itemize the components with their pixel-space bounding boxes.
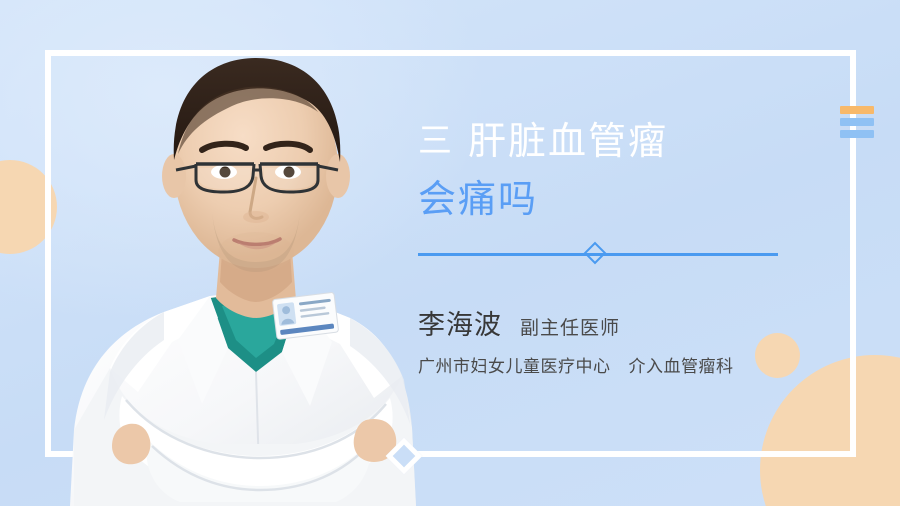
doctor-hospital: 广州市妇女儿童医疗中心 bbox=[418, 357, 611, 376]
doctor-affiliation: 广州市妇女儿童医疗中心介入血管瘤科 bbox=[418, 352, 734, 377]
title-line-1-text: 肝脏血管瘤 bbox=[468, 121, 668, 163]
doctor-rank: 副主任医师 bbox=[520, 313, 620, 340]
bars-icon-bar-2 bbox=[840, 118, 874, 126]
decorative-circle-right-small bbox=[755, 333, 800, 378]
headline-block: 三肝脏血管瘤 会痛吗 bbox=[418, 112, 838, 229]
bars-icon-bar-3 bbox=[840, 130, 874, 138]
doctor-department: 介入血管瘤科 bbox=[629, 357, 734, 376]
bars-icon-bar-1 bbox=[840, 106, 874, 114]
three-lines-glyph-icon: 三 bbox=[418, 112, 454, 170]
bars-icon bbox=[840, 106, 874, 138]
doctor-name: 李海波 bbox=[418, 303, 502, 342]
doctor-identity-row: 李海波 副主任医师 bbox=[418, 303, 620, 342]
doctor-portrait bbox=[60, 0, 440, 506]
title-line-1: 三肝脏血管瘤 bbox=[418, 112, 838, 171]
medical-qa-banner: 三肝脏血管瘤 会痛吗 李海波 副主任医师 广州市妇女儿童医疗中心介入血管瘤科 bbox=[0, 0, 900, 506]
title-line-2: 会痛吗 bbox=[418, 171, 838, 229]
